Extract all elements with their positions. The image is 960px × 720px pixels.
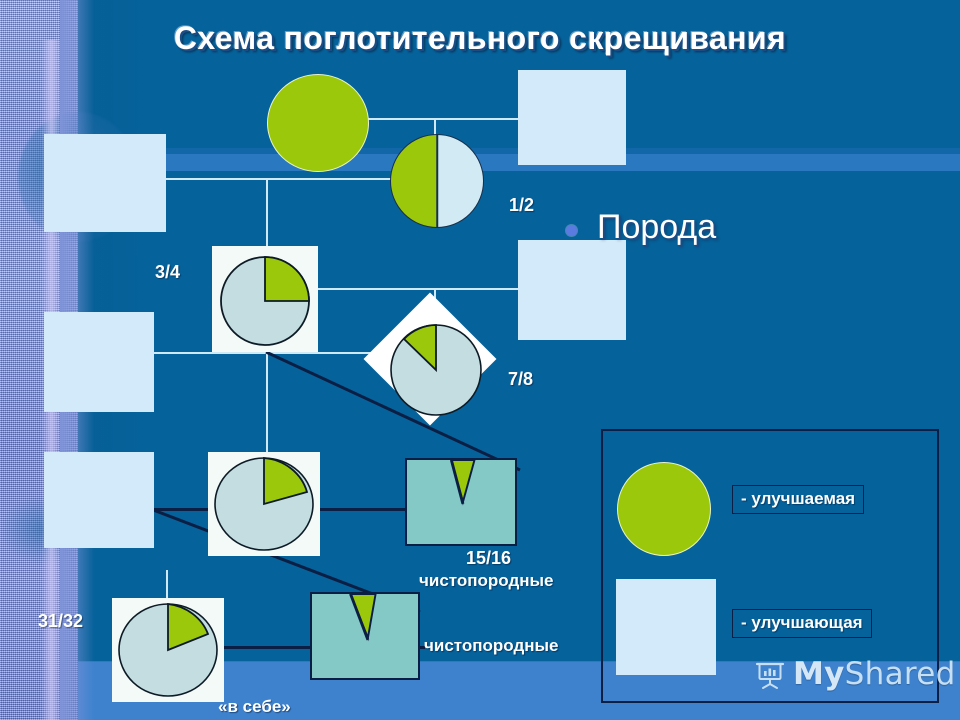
pie-31-32-frame: [112, 598, 224, 702]
presentation-board-icon: [753, 657, 787, 691]
callout-poroda: Порода: [597, 208, 716, 247]
breed-rect-right-2: [518, 240, 626, 340]
purebred-square-lower: [310, 592, 420, 680]
breed-rect-left-3: [44, 452, 154, 548]
purebred-wedge-upper: [407, 460, 515, 544]
label-fraction-1-2: 1/2: [509, 195, 534, 216]
label-purebred-lower: чистопородные: [424, 636, 559, 656]
label-fraction-15-16: 15/16: [466, 548, 511, 569]
myshared-prefix: My: [793, 656, 845, 692]
label-in-itself: «в себе»: [218, 697, 291, 717]
breed-rect-right-1: [518, 70, 626, 165]
myshared-suffix: Shared: [845, 656, 956, 692]
improved-breed-circle: [267, 74, 369, 172]
slide-title: Схема поглотительного скрещивания: [0, 20, 960, 57]
label-purebred-upper: чистопородные: [419, 571, 554, 591]
pie-15-16: [208, 452, 320, 556]
legend-swatch-improved: [617, 462, 711, 556]
pie-3-4-frame: [212, 246, 318, 352]
pie-7-8: [382, 322, 494, 422]
connector-gen0-top: [366, 118, 526, 120]
pie-31-32: [112, 598, 224, 702]
myshared-watermark: MyShared: [753, 656, 956, 692]
connector-gen3-drop: [266, 352, 268, 460]
purebred-square-upper: [405, 458, 517, 546]
breed-rect-left-2: [44, 312, 154, 412]
myshared-wordmark: MyShared: [793, 656, 956, 692]
pie-3-4: [212, 246, 318, 352]
label-fraction-31-32: 31/32: [38, 611, 83, 632]
slide-canvas: Схема поглотительного скрещивания: [0, 0, 960, 720]
hybrid-half-circle: [390, 134, 484, 228]
legend-swatch-improving: [616, 579, 716, 675]
legend-label-improved: - улучшаемая: [732, 485, 864, 514]
breed-rect-left-1: [44, 134, 166, 232]
bullet-point-icon: [566, 225, 577, 236]
label-fraction-3-4: 3/4: [155, 262, 180, 283]
pie-15-16-frame: [208, 452, 320, 556]
purebred-wedge-lower: [312, 594, 418, 678]
connector-gen1-drop: [266, 178, 268, 250]
label-fraction-7-8: 7/8: [508, 369, 533, 390]
legend-label-improving: - улучшающая: [732, 609, 872, 638]
connector-gen2-main: [314, 288, 522, 290]
